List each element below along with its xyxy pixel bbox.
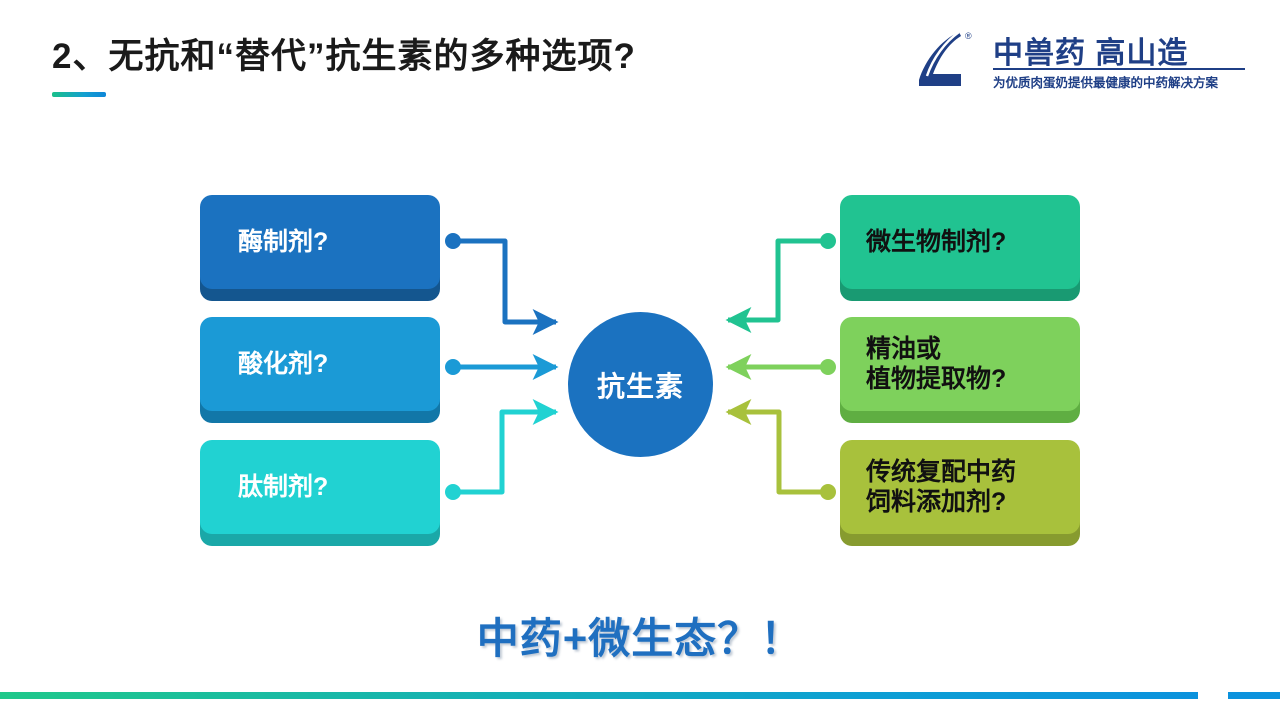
node-acidifier-label: 酸化剂? — [238, 349, 328, 380]
connector-acidifier-to-center — [445, 359, 556, 375]
node-tcm-additive[interactable]: 传统复配中药 饲料添加剂? — [840, 440, 1080, 534]
connector-peptide-to-center — [445, 412, 556, 500]
node-antibiotics-center[interactable]: 抗生素 — [568, 312, 713, 457]
connector-microbial-to-center — [728, 233, 836, 320]
footer-gradient-bar — [0, 692, 1198, 699]
connector-enzyme-to-center — [445, 233, 556, 322]
footer-accent-tab — [1228, 692, 1280, 699]
connector-tcm-additive-to-center — [728, 412, 836, 500]
node-essential-oil-label: 精油或 植物提取物? — [866, 334, 1006, 395]
node-tcm-additive-label: 传统复配中药 饲料添加剂? — [866, 457, 1016, 518]
node-microbial[interactable]: 微生物制剂? — [840, 195, 1080, 289]
node-antibiotics-label: 抗生素 — [597, 365, 684, 405]
node-microbial-label: 微生物制剂? — [866, 227, 1006, 258]
footer-headline: 中药+微生态？！ — [0, 605, 1280, 666]
node-enzyme-label: 酶制剂? — [238, 227, 328, 258]
connector-essential-oil-to-center — [728, 359, 836, 375]
node-peptide-label: 肽制剂? — [238, 472, 328, 503]
node-enzyme[interactable]: 酶制剂? — [200, 195, 440, 289]
node-peptide[interactable]: 肽制剂? — [200, 440, 440, 534]
node-acidifier[interactable]: 酸化剂? — [200, 317, 440, 411]
node-essential-oil[interactable]: 精油或 植物提取物? — [840, 317, 1080, 411]
